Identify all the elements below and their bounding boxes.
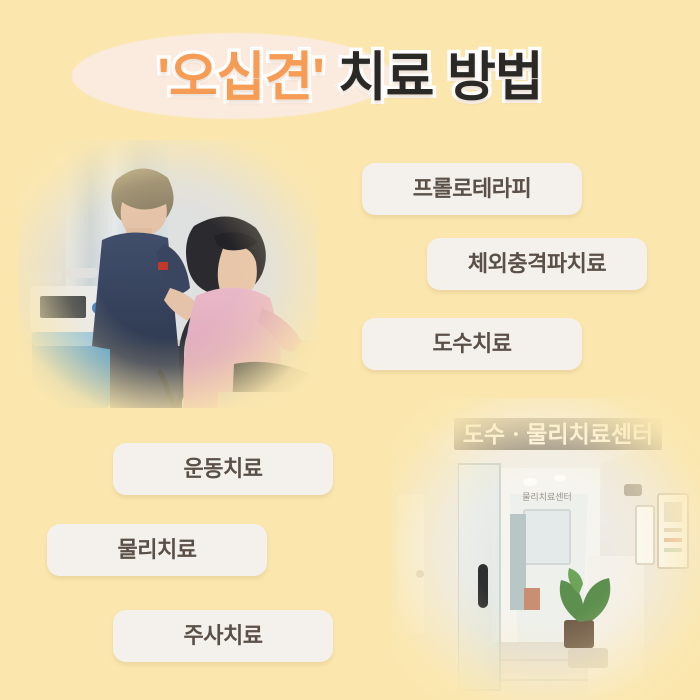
corridor-photo-graphic: 물리치료센터 xyxy=(392,398,700,700)
treatment-card-injection-therapy[interactable]: 주사치료 xyxy=(113,610,333,662)
treatment-card-label: 프롤로테라피 xyxy=(413,178,531,200)
treatment-card-prolotherapy[interactable]: 프롤로테라피 xyxy=(362,163,582,215)
title-accent-word: '오십견' xyxy=(157,51,324,104)
title-main-word: 치료 방법 xyxy=(338,51,543,104)
treatment-card-label: 도수치료 xyxy=(433,333,512,355)
treatment-card-label: 체외충격파치료 xyxy=(468,253,606,275)
treatment-card-label: 운동치료 xyxy=(184,458,263,480)
corridor-main-sign-text: 도수ㆍ물리치료센터 xyxy=(463,421,653,447)
clinic-corridor-photo: 물리치료센터 xyxy=(392,398,700,700)
infographic-canvas: '오십견' 치료 방법 xyxy=(0,0,700,700)
treatment-card-exercise-therapy[interactable]: 운동치료 xyxy=(113,443,333,495)
treatment-card-label: 물리치료 xyxy=(118,539,197,561)
page-title: '오십견' 치료 방법 xyxy=(0,20,700,135)
corridor-inner-sign-text: 물리치료센터 xyxy=(522,491,572,502)
treatment-card-physical-therapy[interactable]: 물리치료 xyxy=(47,524,267,576)
corridor-main-sign: 도수ㆍ물리치료센터 xyxy=(454,418,662,450)
title-text-row: '오십견' 치료 방법 xyxy=(0,20,700,135)
treatment-card-manual-therapy[interactable]: 도수치료 xyxy=(362,318,582,370)
therapy-photo-graphic xyxy=(18,140,318,408)
treatment-card-label: 주사치료 xyxy=(184,625,263,647)
shockwave-therapy-photo xyxy=(18,140,318,408)
treatment-card-eswt[interactable]: 체외충격파치료 xyxy=(427,238,647,290)
